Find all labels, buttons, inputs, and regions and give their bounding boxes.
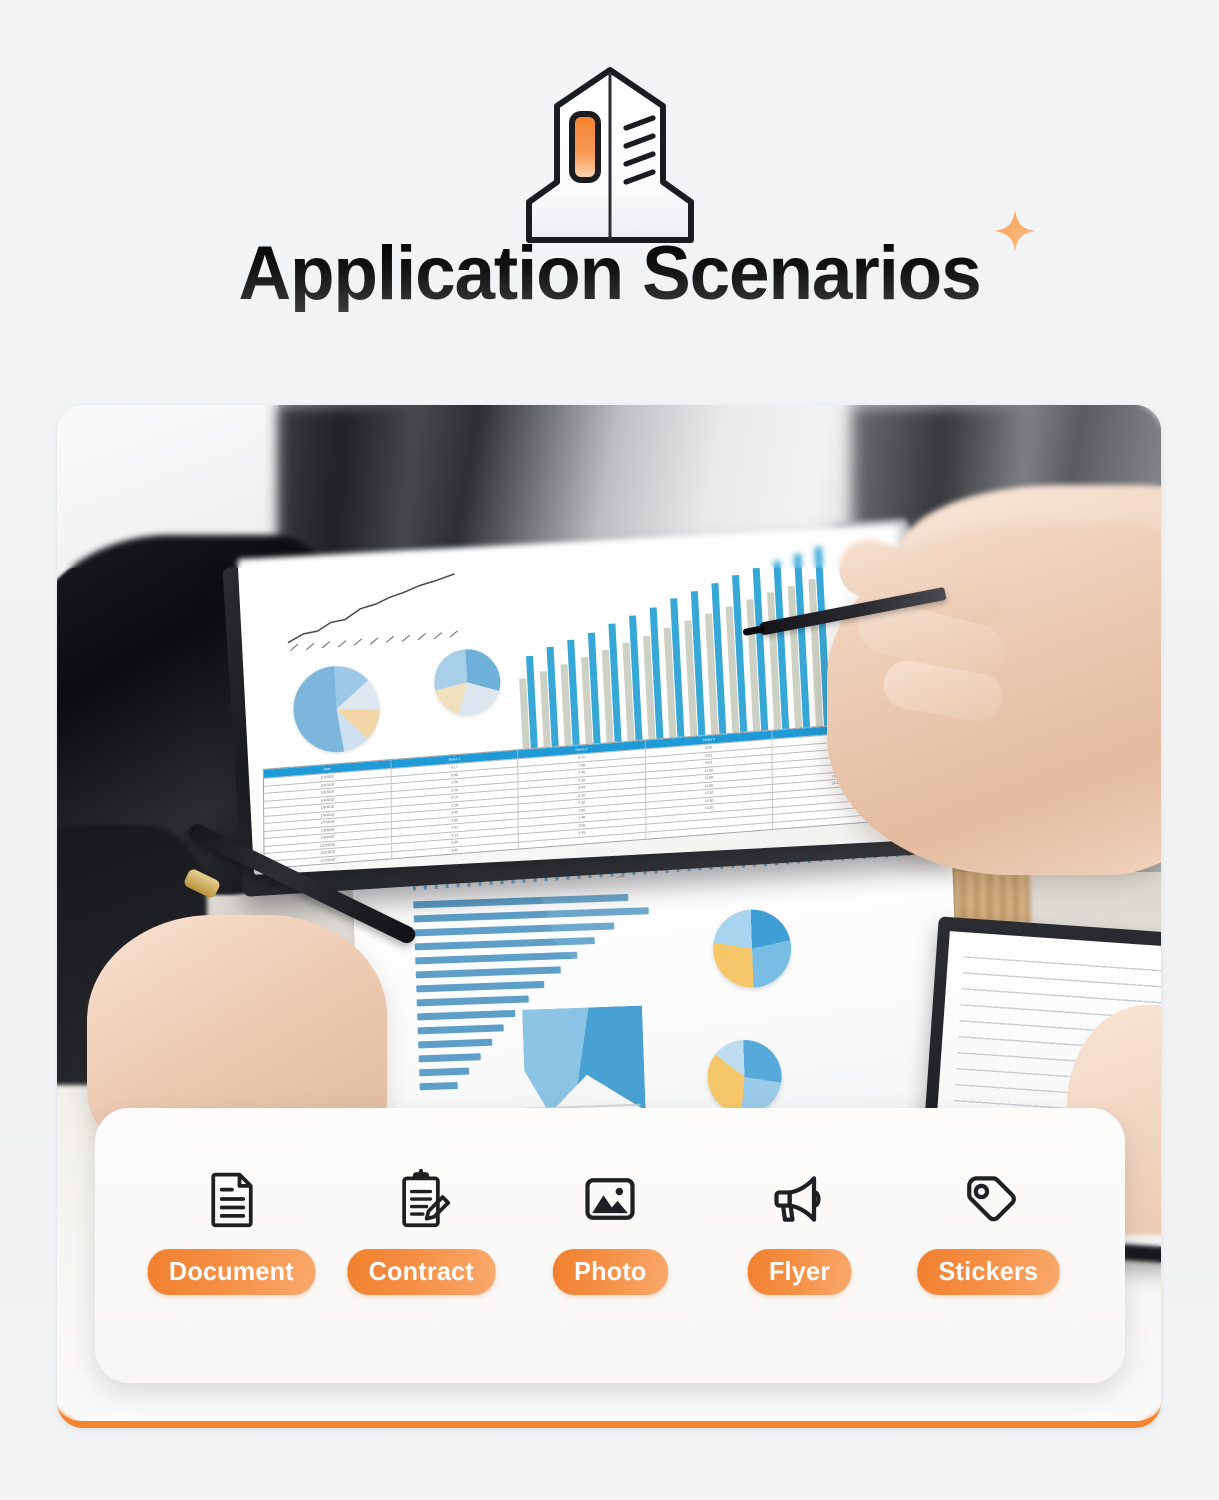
report-pie-chart-small xyxy=(433,648,502,717)
paper-pie-chart-2 xyxy=(706,1039,783,1116)
page-title-row: Application Scenarios xyxy=(0,236,1219,312)
page-root: Application Scenarios xyxy=(0,0,1219,1500)
report-pie-chart-large xyxy=(291,664,381,754)
category-list: Document Contract Photo Flyer Stickers xyxy=(95,1166,1125,1295)
megaphone-icon xyxy=(766,1166,832,1232)
contract-clipboard-pencil-icon xyxy=(388,1166,454,1232)
page-title: Application Scenarios xyxy=(238,236,980,312)
category-label-document[interactable]: Document xyxy=(148,1249,316,1295)
category-label-photo[interactable]: Photo xyxy=(552,1249,667,1295)
report-line-chart xyxy=(279,566,493,657)
category-item-flyer[interactable]: Flyer xyxy=(710,1166,888,1295)
paper-pie-chart-1 xyxy=(712,908,793,989)
category-item-contract[interactable]: Contract xyxy=(332,1166,510,1295)
category-label-contract[interactable]: Contract xyxy=(347,1249,495,1295)
category-label-stickers[interactable]: Stickers xyxy=(917,1249,1059,1295)
price-tag-icon xyxy=(955,1166,1021,1232)
document-icon xyxy=(199,1166,265,1232)
scenario-photo-panel: DateSeries 1Series 2Series 3Series 4 1/1… xyxy=(57,405,1161,1428)
page-header: Application Scenarios xyxy=(0,0,1219,360)
building-tower-icon xyxy=(495,62,725,252)
photo-image-icon xyxy=(577,1166,643,1232)
report-bar-chart xyxy=(513,546,852,753)
category-label-flyer[interactable]: Flyer xyxy=(747,1249,851,1295)
category-item-stickers[interactable]: Stickers xyxy=(899,1166,1077,1295)
report-sheet: DateSeries 1Series 2Series 3Series 4 1/1… xyxy=(238,525,914,875)
paper-funnel-chart xyxy=(522,1006,646,1115)
category-item-document[interactable]: Document xyxy=(143,1166,321,1295)
category-card: Document Contract Photo Flyer Stickers xyxy=(95,1108,1125,1383)
sparkle-star-icon xyxy=(992,208,1038,254)
category-item-photo[interactable]: Photo xyxy=(521,1166,699,1295)
photo-blur-top xyxy=(57,405,1161,568)
